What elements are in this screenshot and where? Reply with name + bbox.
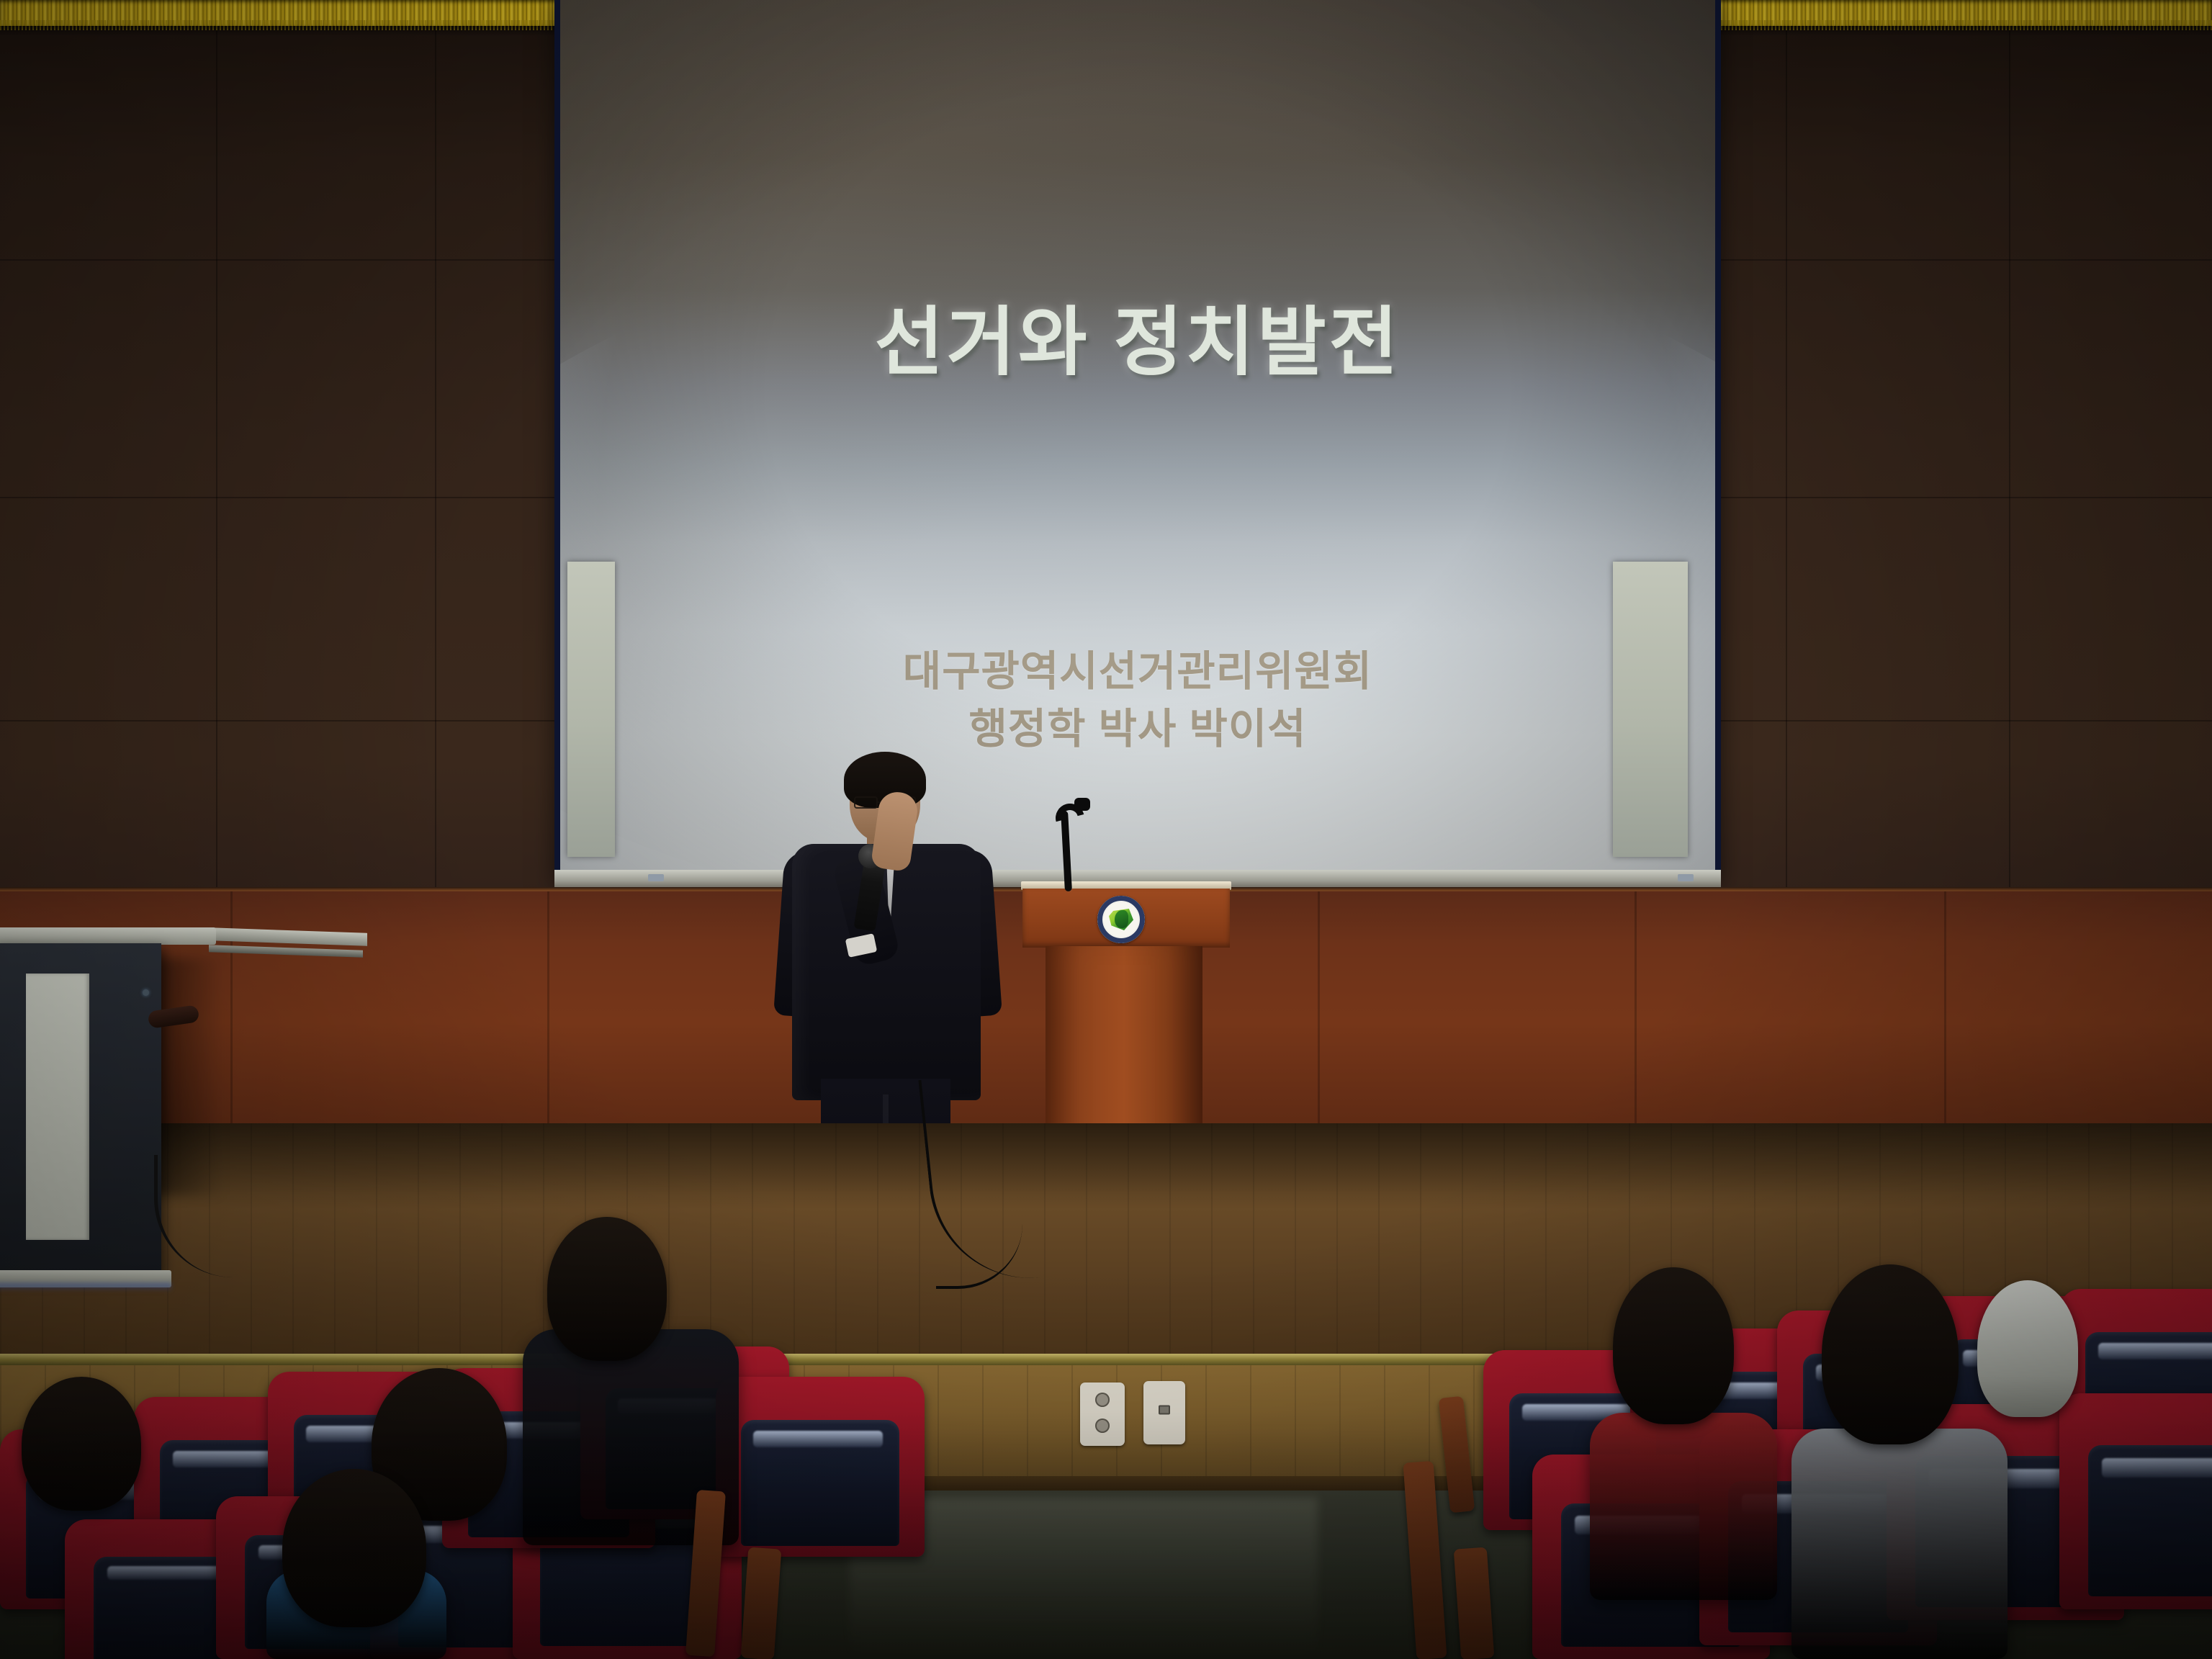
auditorium-seat [716,1377,925,1557]
slide-subtitle-line1: 대구광역시선거관리위원회 [560,637,1715,698]
wall-seam [435,0,436,893]
av-console-base-glow [0,1283,171,1292]
slide-title: 선거와 정치발전 [560,281,1715,390]
eyeglass-lens-left [854,796,878,809]
wall-seam [2009,0,2010,893]
auditorium-photo: 선거와 정치발전 대구광역시선거관리위원회 행정학 박사 박이석 [0,0,2212,1659]
audience-torso-right-1 [1590,1413,1777,1600]
slide-subtitle-line2: 행정학 박사 박이석 [560,695,1715,755]
wall-seam [1786,0,1787,893]
gooseneck-microphone-head [1074,798,1090,811]
power-led-icon [143,989,149,996]
audience-head-left-1 [22,1377,141,1511]
screen-bracket [648,874,664,881]
outlet-socket-upper [1095,1393,1110,1407]
audience-head-right-2 [1822,1264,1959,1444]
screen-bracket [1678,874,1694,881]
av-console-front-panel [26,974,89,1240]
wall-panel-line [1318,891,1320,1129]
projection-screen: 선거와 정치발전 대구광역시선거관리위원회 행정학 박사 박이석 [560,0,1715,877]
duplex-power-outlet [1080,1382,1125,1446]
audience-head-right-1 [1613,1267,1734,1424]
outlet-socket-lower [1095,1419,1110,1433]
auditorium-seat [2059,1393,2212,1609]
wall-panel-line [230,891,233,1129]
jack-port [1159,1406,1170,1415]
wall-light-strip-left [567,562,615,857]
av-console-top [0,927,216,945]
wall-seam [216,0,217,893]
wall-light-strip-right [1613,562,1688,857]
audience-hood-right-3 [1977,1280,2078,1417]
audience-head-left-4 [282,1469,426,1627]
seat-highlight [753,1431,883,1447]
emblem-ring [1097,896,1145,943]
audience-head-left-3 [547,1217,667,1361]
wall-panel-line [547,891,549,1129]
election-commission-emblem-icon [1097,896,1145,943]
single-jack-plate [1143,1381,1185,1444]
audience-torso-right-2 [1791,1429,2008,1659]
stage-shadow [0,1123,2212,1210]
wall-panel-line [1944,891,1946,1129]
seat-highlight [2102,1458,2212,1478]
projection-screen-frame: 선거와 정치발전 대구광역시선거관리위원회 행정학 박사 박이석 [554,0,1721,887]
wall-panel-line [1635,891,1637,1129]
seat-highlight [2098,1343,2212,1359]
